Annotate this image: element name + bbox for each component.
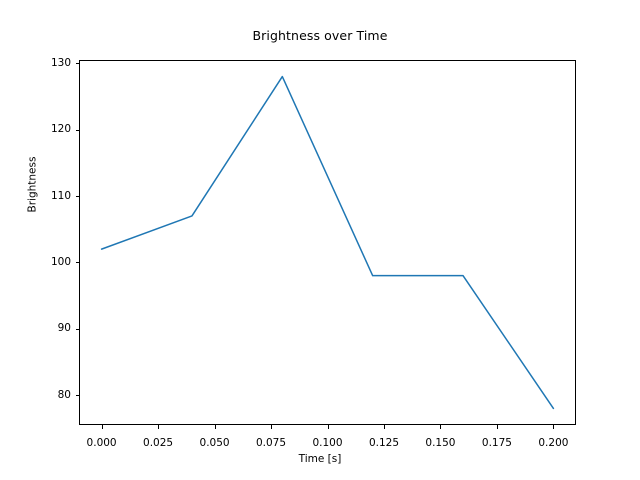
- x-tick-mark: [384, 425, 385, 429]
- x-tick-label: 0.000: [87, 437, 117, 449]
- y-axis-label: Brightness: [27, 157, 39, 213]
- y-tick-mark: [76, 395, 80, 396]
- y-axis-label-wrapper: Brightness: [21, 65, 40, 305]
- x-tick-label: 0.100: [312, 437, 342, 449]
- x-tick-mark: [215, 425, 216, 429]
- y-tick-label-wrapper: 80: [0, 389, 71, 401]
- y-tick-mark: [76, 262, 80, 263]
- x-tick-label: 0.150: [425, 437, 455, 449]
- chart-title: Brightness over Time: [0, 28, 640, 43]
- y-tick-mark: [76, 63, 80, 64]
- x-tick-mark: [328, 425, 329, 429]
- y-tick-label: 110: [51, 190, 71, 202]
- x-tick-label-wrapper: 0.200: [518, 431, 588, 450]
- y-tick-label: 130: [51, 57, 71, 69]
- x-tick-label: 0.075: [256, 437, 286, 449]
- x-tick-label: 0.025: [143, 437, 173, 449]
- x-tick-mark: [158, 425, 159, 429]
- y-tick-label: 120: [51, 123, 71, 135]
- y-tick-label: 100: [51, 256, 71, 268]
- y-tick-label: 90: [58, 322, 71, 334]
- figure-canvas: Brightness over Time 8090100110120130 0.…: [0, 0, 640, 480]
- y-tick-mark: [76, 329, 80, 330]
- x-tick-mark: [553, 425, 554, 429]
- plot-area: [79, 60, 576, 425]
- y-tick-mark: [76, 130, 80, 131]
- x-tick-mark: [497, 425, 498, 429]
- x-tick-mark: [271, 425, 272, 429]
- x-tick-mark: [440, 425, 441, 429]
- y-tick-label: 80: [58, 389, 71, 401]
- x-tick-mark: [102, 425, 103, 429]
- data-series-line: [102, 77, 554, 409]
- x-tick-label: 0.125: [369, 437, 399, 449]
- x-tick-label: 0.050: [200, 437, 230, 449]
- y-tick-label-wrapper: 90: [0, 322, 71, 334]
- x-tick-label: 0.200: [538, 437, 568, 449]
- x-axis-label: Time [s]: [0, 453, 640, 465]
- y-tick-mark: [76, 196, 80, 197]
- x-tick-label: 0.175: [482, 437, 512, 449]
